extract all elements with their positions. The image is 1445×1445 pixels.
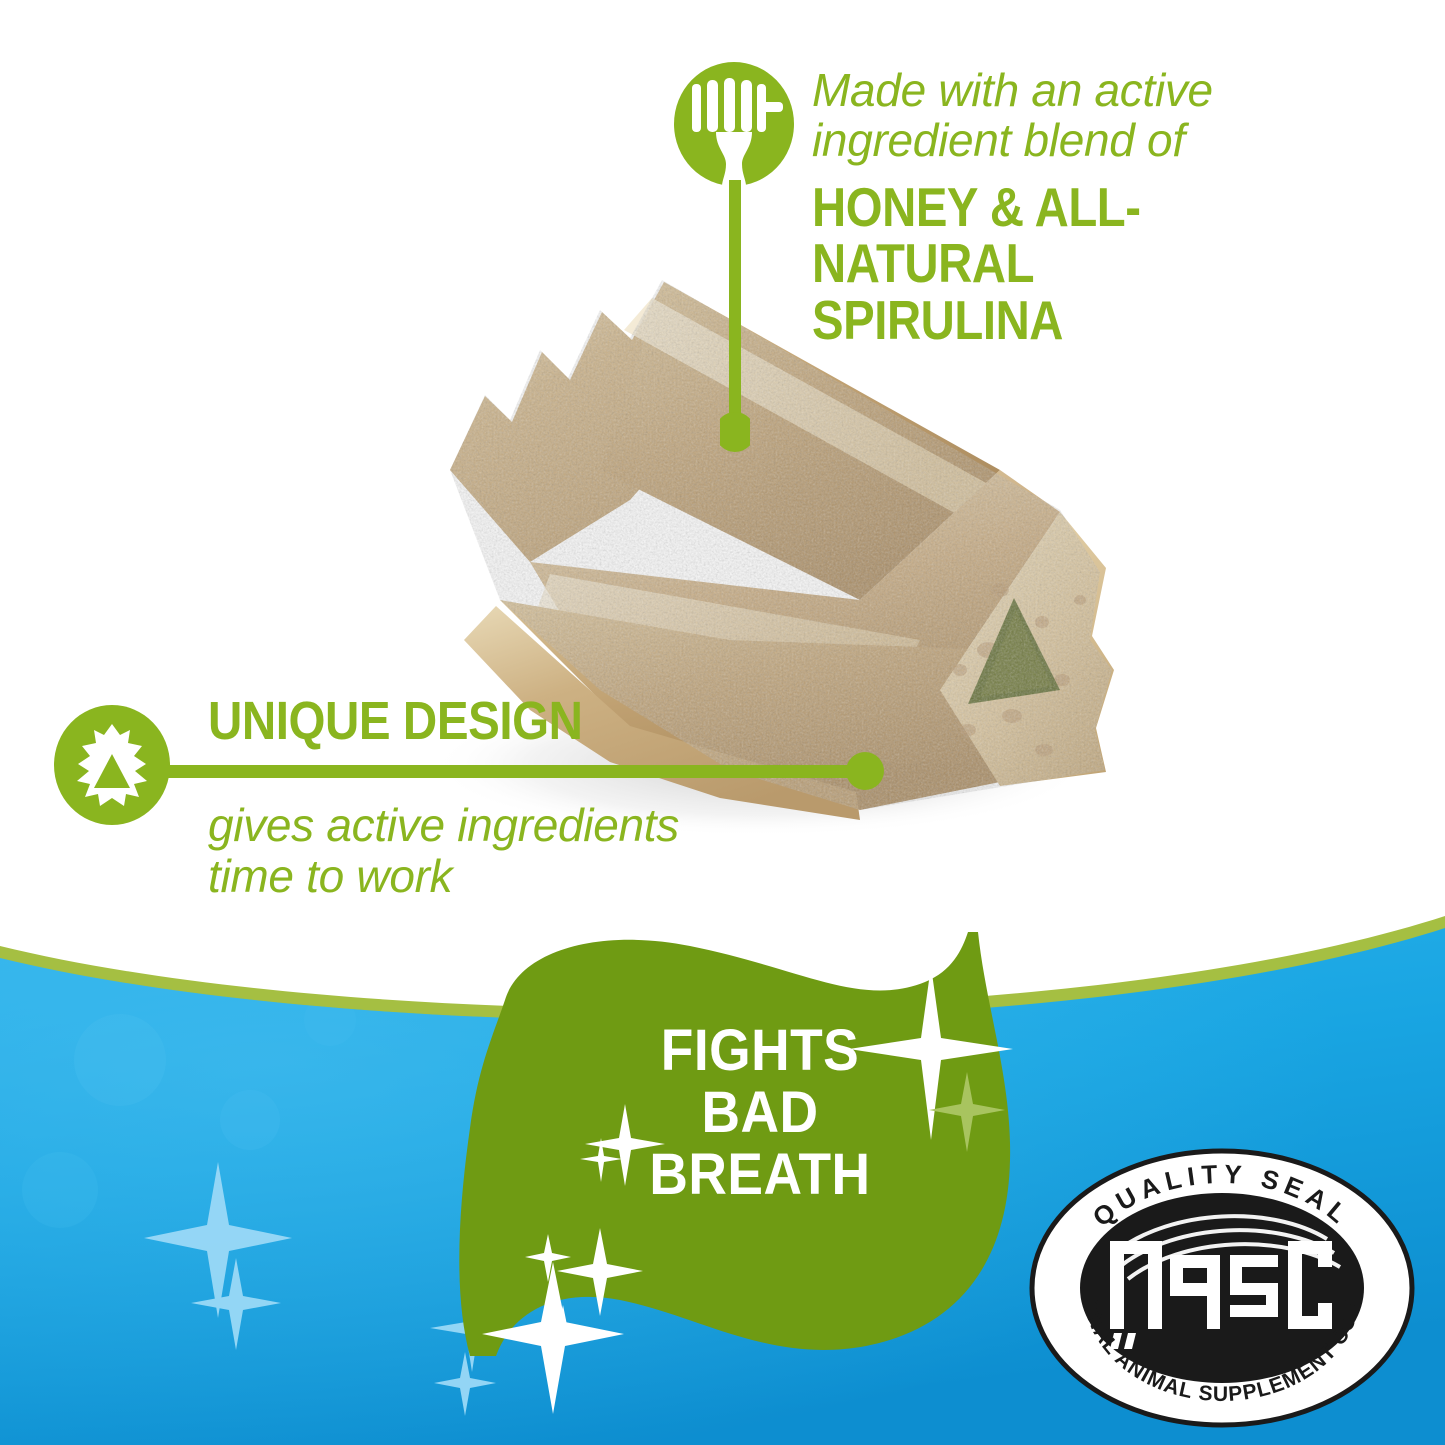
sparkle-star-icon (144, 1162, 292, 1318)
sparkle-star-icon (557, 1228, 643, 1316)
product-feature-graphic: Made with an active ingredient blend of … (0, 0, 1445, 1445)
sparkle-star-icon (487, 1228, 553, 1294)
honey-connector-line (720, 180, 750, 460)
honey-intro-text: Made with an active ingredient blend of (812, 66, 1432, 165)
sparkle-star-icon (482, 1262, 624, 1414)
honey-headline-text: HONEY & ALL-NATURAL SPIRULINA (812, 179, 1345, 347)
callout-unique-design: UNIQUE DESIGN gives active ingredients t… (50, 690, 870, 920)
sparkle-star-icon (430, 1286, 514, 1372)
design-title-text: UNIQUE DESIGN (208, 690, 582, 752)
sparkle-star-icon (525, 1234, 571, 1282)
sparkle-star-icon (434, 1352, 496, 1416)
design-connector-line (150, 752, 890, 792)
sparkle-star-icon (191, 1258, 281, 1350)
nasc-quality-seal: QUALITY SEAL NATIONAL ANIMAL SUPPLEMENT … (1022, 1143, 1422, 1433)
callout-honey-spirulina: Made with an active ingredient blend of … (664, 62, 1444, 402)
design-subtitle-text: gives active ingredients time to work (208, 800, 828, 901)
sparkle-star-icon (539, 1305, 587, 1354)
blue-sparkles (144, 1162, 553, 1416)
honey-callout-text: Made with an active ingredient blend of … (812, 66, 1432, 348)
fights-bad-breath-text: FIGHTS BAD BREATH (576, 1020, 944, 1206)
